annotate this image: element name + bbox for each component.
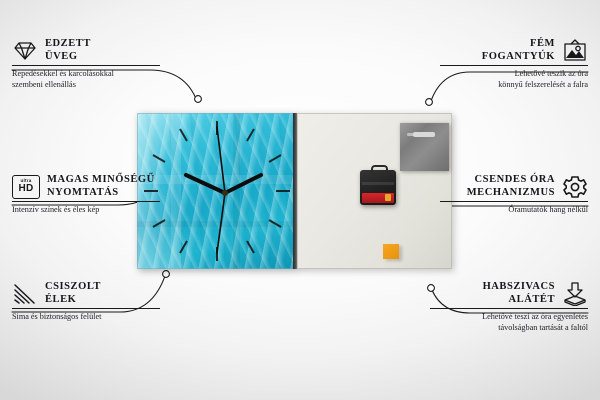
movement-hanger-loop bbox=[371, 165, 388, 173]
metal-hanger-plate bbox=[400, 123, 449, 171]
connector-dot-edges bbox=[163, 271, 170, 278]
battery bbox=[362, 193, 394, 203]
feature-description: Repedésekkel és karcolásokkal szembeni e… bbox=[12, 66, 160, 90]
feature-title: MAGAS MINŐSÉGŰ NYOMTATÁS bbox=[47, 174, 155, 199]
feature-title: CSENDES ÓRA MECHANIZMUS bbox=[467, 174, 555, 199]
feature-description: Sima és biztonságos felület bbox=[12, 309, 160, 323]
hanger-slot bbox=[413, 132, 435, 137]
feature-title: HABSZIVACS ALÁTÉT bbox=[483, 281, 555, 306]
picture-frame-hanger-icon bbox=[562, 39, 588, 63]
feature-tempered-glass: EDZETT ÜVEG Repedésekkel és karcolásokka… bbox=[12, 38, 160, 90]
feature-high-quality-print: ultra HD MAGAS MINŐSÉGŰ NYOMTATÁS Intenz… bbox=[12, 174, 160, 216]
feature-metal-handles: FÉM FOGANTYÚK Lehetővé teszik az óra kön… bbox=[440, 38, 588, 90]
feature-description: Intenzív színek és éles kép bbox=[12, 202, 160, 216]
connector-dot-tempered-glass bbox=[195, 96, 202, 103]
feature-description: Lehetővé teszi az óra egyenletes távolsá… bbox=[430, 309, 588, 333]
clock-movement bbox=[360, 170, 396, 205]
feature-header: CSISZOLT ÉLEK bbox=[12, 281, 160, 308]
diamond-icon bbox=[12, 40, 38, 62]
feature-title: CSISZOLT ÉLEK bbox=[45, 281, 101, 306]
feature-title: FÉM FOGANTYÚK bbox=[482, 38, 555, 63]
feature-title: EDZETT ÜVEG bbox=[45, 38, 91, 63]
feature-header: HABSZIVACS ALÁTÉT bbox=[430, 281, 588, 308]
clock-hands bbox=[186, 127, 261, 253]
hatched-edge-icon bbox=[12, 283, 38, 305]
clock-dial bbox=[137, 113, 297, 269]
infographic-canvas: EDZETT ÜVEG Repedésekkel és karcolásokka… bbox=[0, 0, 600, 400]
feature-description: Óramutatók hang nélkül bbox=[440, 202, 588, 216]
foam-pad bbox=[383, 244, 399, 259]
clock-back-panel bbox=[297, 113, 452, 269]
feature-header: FÉM FOGANTYÚK bbox=[440, 38, 588, 65]
connector-dot-handles bbox=[426, 99, 433, 106]
feature-description: Lehetővé teszik az óra könnyű felszerelé… bbox=[440, 66, 588, 90]
clock-hands-hub bbox=[222, 190, 228, 196]
glass-wall-clock-front bbox=[137, 113, 297, 269]
feature-header: CSENDES ÓRA MECHANIZMUS bbox=[440, 174, 588, 201]
movement-highlight bbox=[362, 182, 394, 185]
feature-header: ultra HD MAGAS MINŐSÉGŰ NYOMTATÁS bbox=[12, 174, 160, 201]
ultra-hd-icon: ultra HD bbox=[12, 175, 40, 199]
arrow-onto-pad-icon bbox=[562, 282, 588, 306]
feature-polished-edges: CSISZOLT ÉLEK Sima és biztonságos felüle… bbox=[12, 281, 160, 323]
ultra-hd-large-text: HD bbox=[18, 184, 33, 194]
battery-terminal bbox=[385, 194, 391, 201]
feature-header: EDZETT ÜVEG bbox=[12, 38, 160, 65]
gear-icon bbox=[562, 175, 588, 199]
feature-foam-backing: HABSZIVACS ALÁTÉT Lehetővé teszi az óra … bbox=[430, 281, 588, 333]
feature-silent-mechanism: CSENDES ÓRA MECHANIZMUS Óramutatók hang … bbox=[440, 174, 588, 216]
